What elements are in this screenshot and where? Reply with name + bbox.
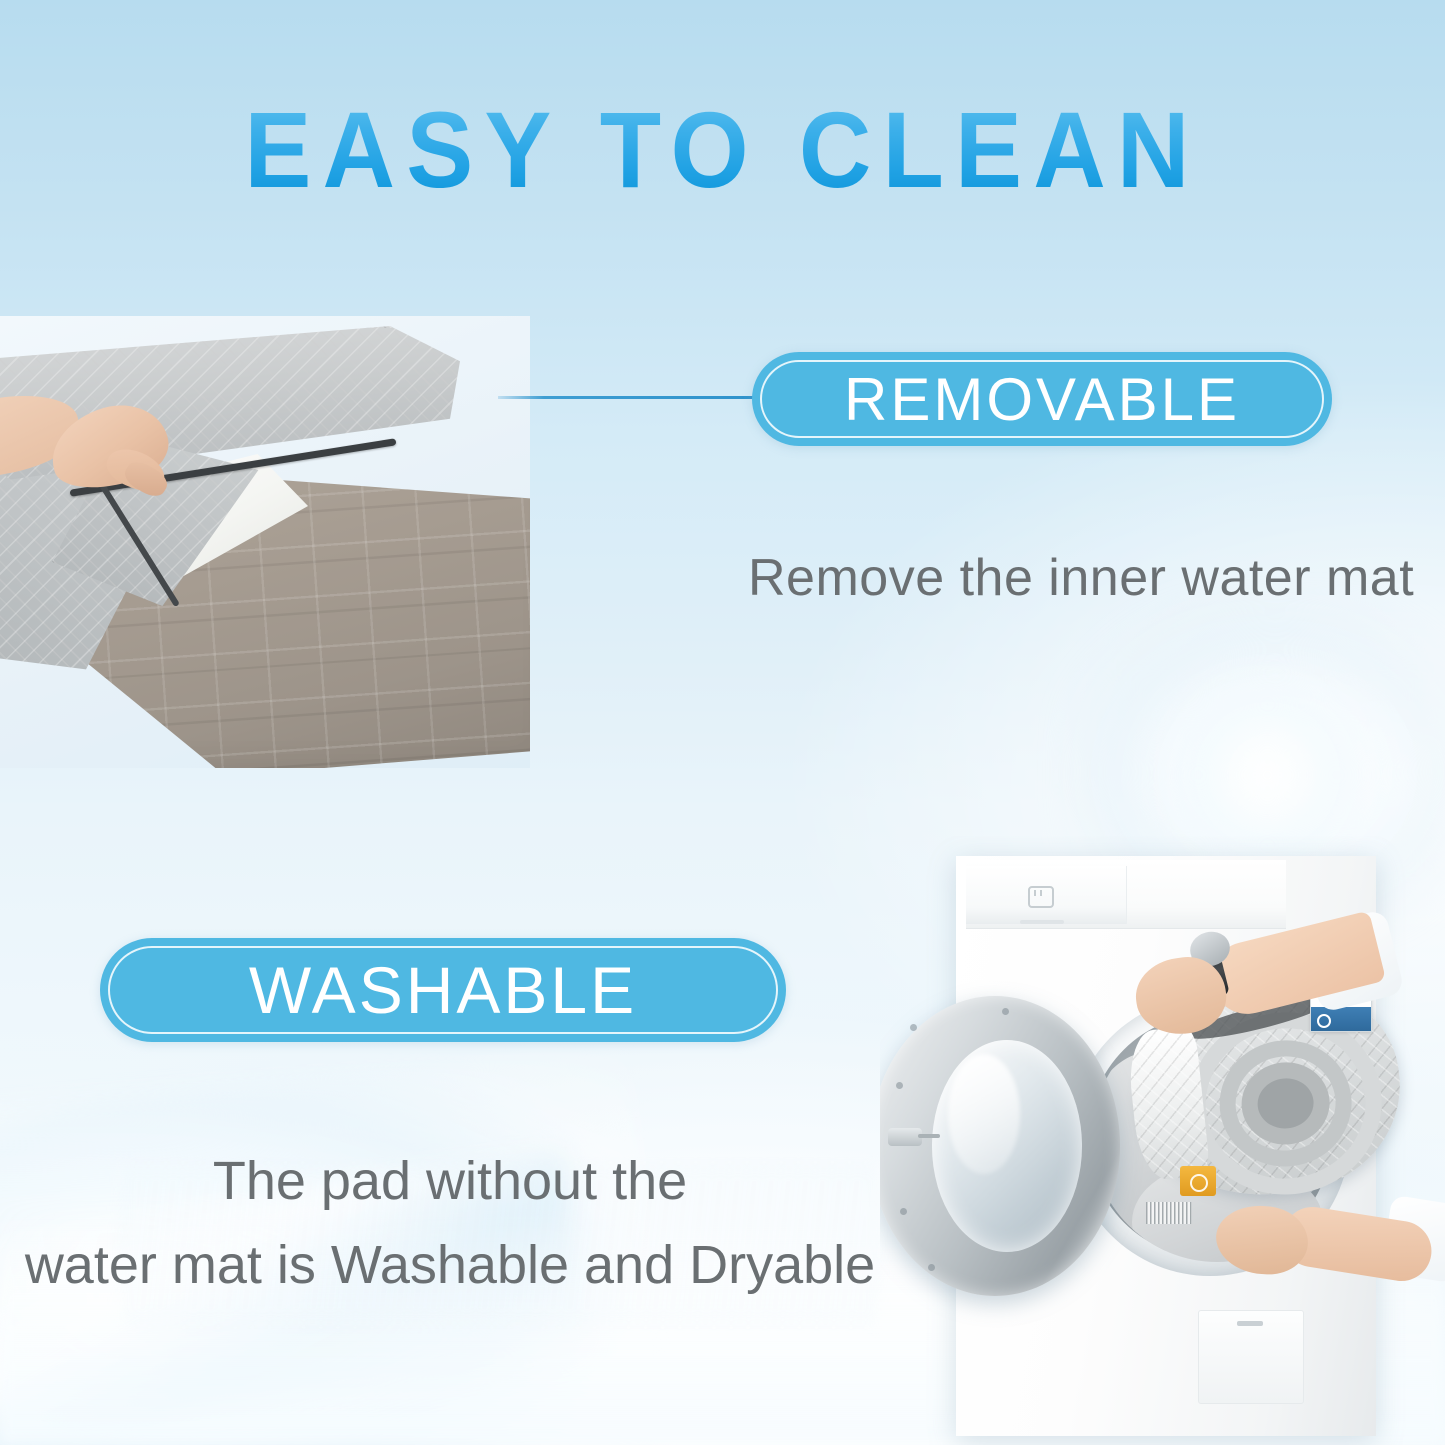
- door-screw: [928, 1264, 935, 1271]
- caption-removable: Remove the inner water mat: [748, 548, 1414, 608]
- connector-line-icon: [498, 396, 756, 399]
- warning-sticker-icon: [1180, 1166, 1216, 1196]
- appliance-brand-logo-icon: [1028, 886, 1054, 908]
- product-photo-washable-machine: [880, 836, 1445, 1445]
- door-screw: [910, 1024, 917, 1031]
- door-screw: [900, 1208, 907, 1215]
- caption-washable: The pad without the water mat is Washabl…: [0, 1140, 900, 1307]
- badge-washable-label: WASHABLE: [249, 952, 637, 1028]
- door-latch-icon: [888, 1128, 922, 1146]
- caption-washable-line2: water mat is Washable and Dryable: [0, 1224, 900, 1308]
- product-photo-removable-cover: [0, 316, 530, 768]
- door-screw: [1002, 1008, 1009, 1015]
- washing-machine-door[interactable]: [880, 996, 1120, 1296]
- badge-removable-label: REMOVABLE: [844, 365, 1240, 434]
- filter-access-hatch: [1198, 1310, 1304, 1404]
- door-glass-highlight: [948, 1054, 1020, 1174]
- door-screw: [896, 1082, 903, 1089]
- page-title: EASY TO CLEAN: [51, 96, 1395, 204]
- caption-washable-line1: The pad without the: [0, 1140, 900, 1224]
- product-feature-poster: EASY TO CLEAN REMOVABLE Rem: [0, 0, 1445, 1445]
- badge-removable[interactable]: REMOVABLE: [752, 352, 1332, 446]
- detergent-drawer-handle: [1020, 920, 1064, 924]
- hand-lower-supporting-pad: [1210, 1196, 1440, 1306]
- barcode-sticker-icon: [1146, 1202, 1192, 1224]
- hand-upper-loading-pad: [1126, 930, 1376, 1050]
- hand-lifting-cover: [50, 408, 180, 518]
- badge-washable[interactable]: WASHABLE: [100, 938, 786, 1042]
- detergent-drawer: [966, 866, 1127, 924]
